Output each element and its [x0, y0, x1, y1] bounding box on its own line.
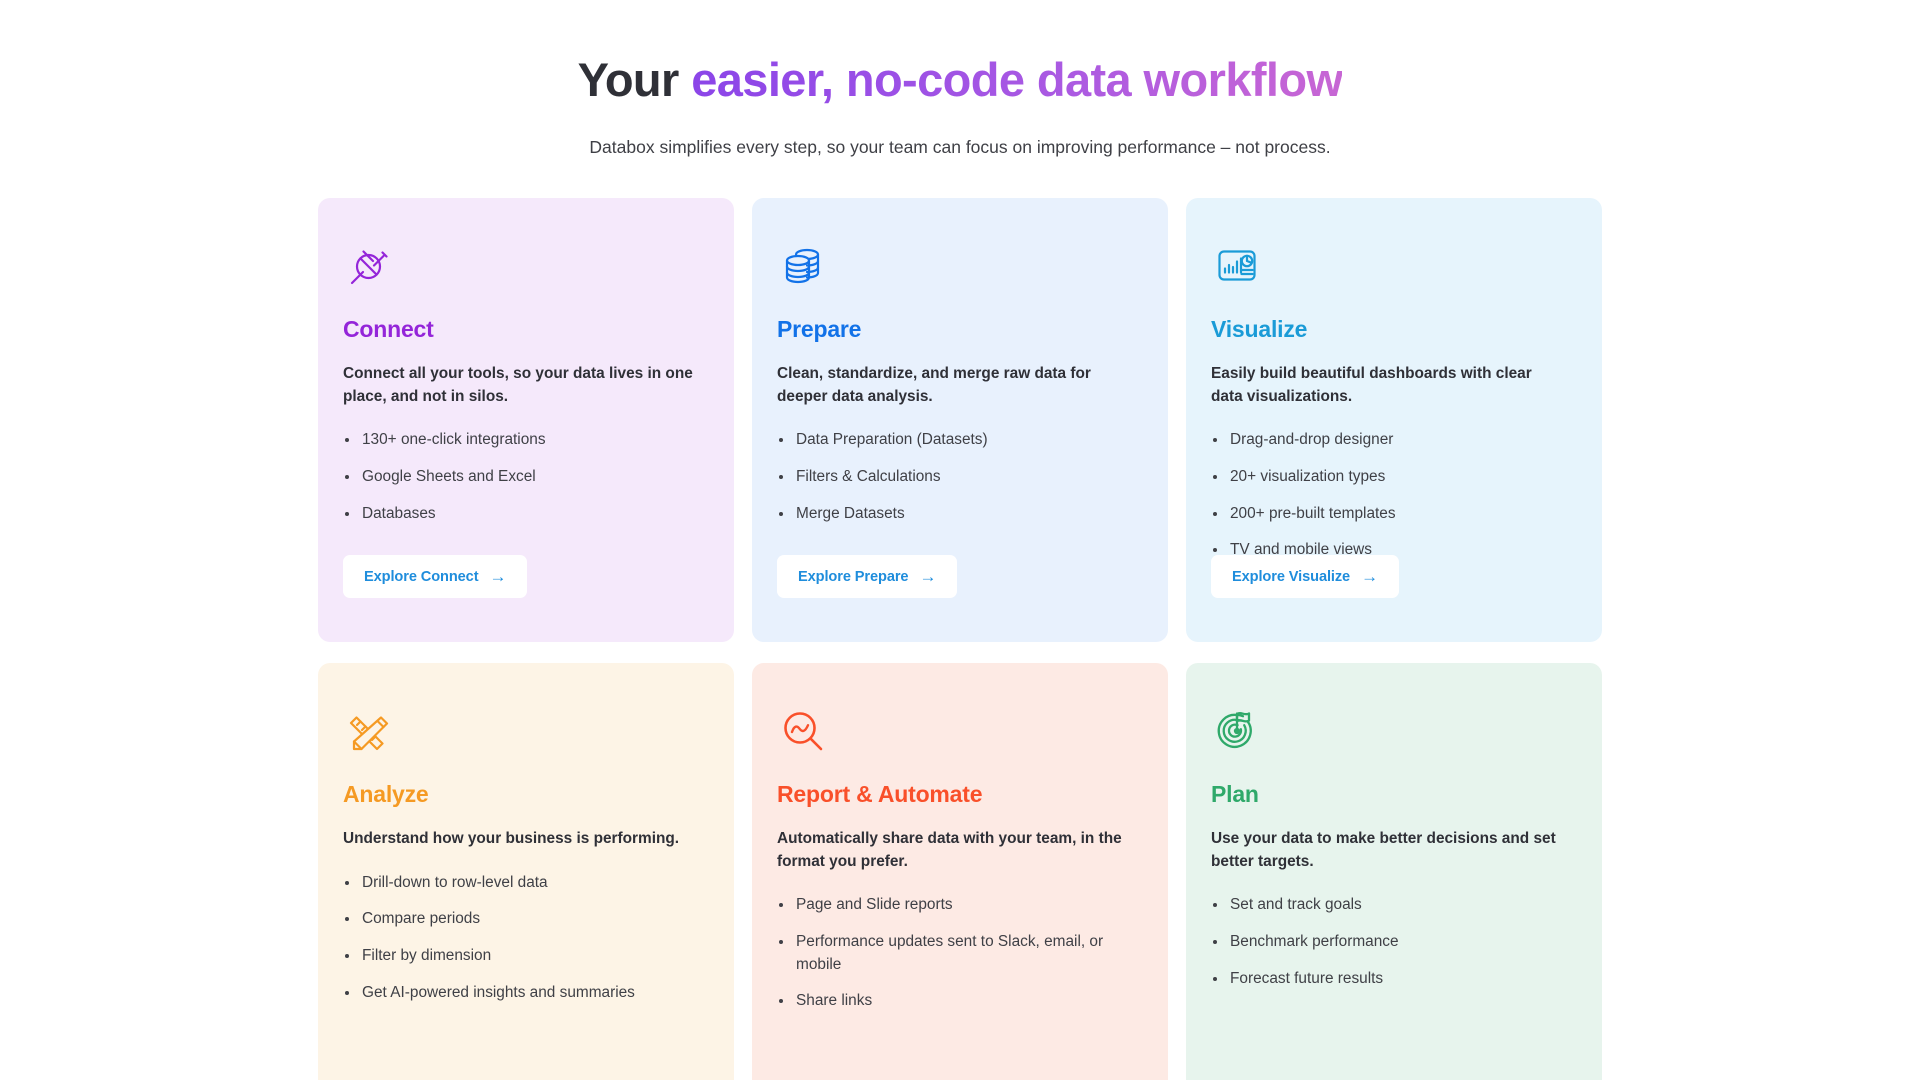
list-item: Merge Datasets	[777, 503, 1135, 526]
card-title: Plan	[1211, 781, 1577, 808]
list-item: 200+ pre-built templates	[1211, 503, 1569, 526]
list-item: 20+ visualization types	[1211, 466, 1569, 489]
card-feature-list: Data Preparation (Datasets) Filters & Ca…	[777, 429, 1143, 539]
card-description: Understand how your business is performi…	[343, 828, 698, 851]
feature-card-prepare[interactable]: Prepare Clean, standardize, and merge ra…	[752, 198, 1168, 642]
list-item: Databases	[343, 503, 701, 526]
list-item: Benchmark performance	[1211, 931, 1569, 954]
card-feature-list: Drill-down to row-level data Compare per…	[343, 872, 709, 1019]
feature-card-analyze[interactable]: Analyze Understand how your business is …	[318, 663, 734, 1080]
database-stack-icon	[777, 240, 1143, 292]
list-item: Forecast future results	[1211, 968, 1569, 991]
cta-label: Explore Visualize	[1232, 569, 1350, 585]
card-feature-list: Set and track goals Benchmark performanc…	[1211, 894, 1577, 1004]
list-item: Filters & Calculations	[777, 466, 1135, 489]
card-title: Connect	[343, 316, 709, 343]
list-item: Data Preparation (Datasets)	[777, 429, 1135, 452]
pencil-ruler-icon	[343, 705, 709, 757]
page-title-gradient: easier, no-code data workflow	[691, 53, 1342, 106]
list-item: Filter by dimension	[343, 945, 701, 968]
target-flag-icon	[1211, 705, 1577, 757]
feature-card-connect[interactable]: Connect Connect all your tools, so your …	[318, 198, 734, 642]
card-description: Connect all your tools, so your data liv…	[343, 363, 698, 408]
list-item: Performance updates sent to Slack, email…	[777, 931, 1135, 976]
arrow-right-icon: →	[919, 568, 936, 585]
arrow-right-icon: →	[489, 568, 506, 585]
features-page: Your easier, no-code data workflow Datab…	[0, 0, 1920, 1080]
card-feature-list: Drag-and-drop designer 20+ visualization…	[1211, 429, 1577, 576]
cta-label: Explore Connect	[364, 569, 478, 585]
page-title: Your easier, no-code data workflow	[0, 54, 1920, 107]
list-item: Set and track goals	[1211, 894, 1569, 917]
feature-card-grid: Connect Connect all your tools, so your …	[318, 198, 1602, 1080]
explore-visualize-button[interactable]: Explore Visualize →	[1211, 555, 1399, 598]
card-feature-list: 130+ one-click integrations Google Sheet…	[343, 429, 709, 539]
list-item: 130+ one-click integrations	[343, 429, 701, 452]
card-description: Use your data to make better decisions a…	[1211, 828, 1566, 873]
feature-card-plan[interactable]: Plan Use your data to make better decisi…	[1186, 663, 1602, 1080]
list-item: Google Sheets and Excel	[343, 466, 701, 489]
feature-card-visualize[interactable]: Visualize Easily build beautiful dashboa…	[1186, 198, 1602, 642]
dashboard-chart-icon	[1211, 240, 1577, 292]
list-item: Share links	[777, 990, 1135, 1013]
card-title: Prepare	[777, 316, 1143, 343]
card-feature-list: Page and Slide reports Performance updat…	[777, 894, 1143, 1027]
card-title: Visualize	[1211, 316, 1577, 343]
arrow-right-icon: →	[1361, 568, 1378, 585]
card-description: Automatically share data with your team,…	[777, 828, 1132, 873]
plug-icon	[343, 240, 709, 292]
hero-section: Your easier, no-code data workflow Datab…	[0, 54, 1920, 160]
card-title: Analyze	[343, 781, 709, 808]
card-description: Clean, standardize, and merge raw data f…	[777, 363, 1132, 408]
explore-connect-button[interactable]: Explore Connect →	[343, 555, 527, 598]
card-description: Easily build beautiful dashboards with c…	[1211, 363, 1566, 408]
magnifier-pulse-icon	[777, 705, 1143, 757]
feature-card-report-automate[interactable]: Report & Automate Automatically share da…	[752, 663, 1168, 1080]
card-title: Report & Automate	[777, 781, 1143, 808]
list-item: Get AI-powered insights and summaries	[343, 982, 701, 1005]
page-subtitle: Databox simplifies every step, so your t…	[0, 135, 1920, 160]
cta-label: Explore Prepare	[798, 569, 908, 585]
page-title-plain: Your	[578, 53, 692, 106]
list-item: Page and Slide reports	[777, 894, 1135, 917]
list-item: Drill-down to row-level data	[343, 872, 701, 895]
explore-prepare-button[interactable]: Explore Prepare →	[777, 555, 957, 598]
list-item: Drag-and-drop designer	[1211, 429, 1569, 452]
list-item: Compare periods	[343, 908, 701, 931]
